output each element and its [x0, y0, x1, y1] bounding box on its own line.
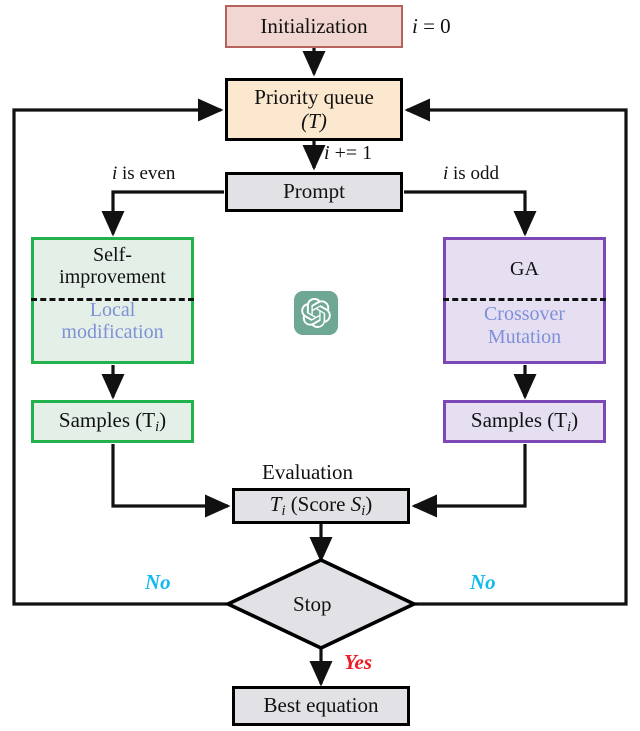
edge-prompt-to-selfimprovement	[113, 192, 224, 234]
node-initialization[interactable]: Initialization	[225, 5, 403, 48]
label-yes: Yes	[344, 650, 372, 675]
self-improvement-sub-line2: modification	[61, 321, 163, 343]
node-samples-right[interactable]: Samples (Ti)	[443, 400, 606, 443]
edge-prompt-to-ga	[404, 192, 525, 234]
label-i-equals-zero-rest: = 0	[418, 14, 451, 38]
node-samples-left[interactable]: Samples (Ti)	[31, 400, 194, 443]
self-improvement-line1: Self-	[93, 244, 132, 266]
node-ga[interactable]: GA Crossover Mutation	[443, 237, 606, 364]
label-no-left: No	[145, 570, 171, 595]
node-evaluation[interactable]: Ti (Score Si)	[232, 488, 410, 524]
label-i-increment-rest: += 1	[330, 142, 373, 164]
self-improvement-line2: improvement	[59, 266, 166, 288]
edge-samples-left-to-evaluation	[113, 444, 228, 506]
best-equation-label: Best equation	[264, 694, 379, 718]
node-best-equation[interactable]: Best equation	[232, 686, 410, 726]
evaluation-s: S	[351, 492, 362, 516]
ga-sub-line2: Mutation	[488, 326, 561, 348]
prompt-label: Prompt	[283, 180, 345, 204]
evaluation-caption: Evaluation	[262, 460, 353, 485]
samples-left-tail: )	[159, 408, 166, 432]
flowchart-canvas: Initialization i = 0 Priority queue (T) …	[0, 0, 640, 731]
priority-queue-label-line2: (T)	[301, 110, 327, 134]
samples-right-tail: )	[571, 408, 578, 432]
ga-line1: GA	[510, 258, 539, 280]
openai-logo	[294, 291, 338, 335]
samples-left-main: Samples (T	[59, 408, 155, 432]
label-i-is-odd: i is odd	[443, 163, 499, 185]
samples-right-main: Samples (T	[471, 408, 567, 432]
label-i-is-even-rest: is even	[117, 163, 175, 184]
self-improvement-sub-line1: Local	[90, 299, 136, 321]
label-i-is-even: i is even	[112, 163, 175, 185]
node-priority-queue[interactable]: Priority queue (T)	[225, 78, 403, 141]
openai-logo-glyph	[301, 298, 331, 328]
initialization-label: Initialization	[260, 15, 367, 39]
evaluation-mid: (Score	[285, 492, 350, 516]
label-i-is-odd-rest: is odd	[448, 163, 499, 184]
label-i-equals-zero: i = 0	[412, 14, 451, 39]
evaluation-label: Ti (Score Si)	[270, 493, 372, 519]
samples-left-label: Samples (Ti)	[59, 409, 166, 435]
label-no-right: No	[470, 570, 496, 595]
ga-sub-line1: Crossover	[484, 303, 565, 325]
priority-queue-label-line1: Priority queue	[254, 86, 374, 110]
label-i-increment: i += 1	[324, 142, 372, 165]
evaluation-tail: )	[365, 492, 372, 516]
samples-right-label: Samples (Ti)	[471, 409, 578, 435]
stop-label[interactable]: Stop	[293, 592, 332, 617]
ga-divider	[443, 298, 606, 301]
evaluation-t: T	[270, 492, 282, 516]
edge-samples-right-to-evaluation	[414, 444, 525, 506]
node-prompt[interactable]: Prompt	[225, 172, 403, 212]
node-self-improvement[interactable]: Self- improvement Local modification	[31, 237, 194, 364]
self-improvement-divider	[31, 298, 194, 301]
